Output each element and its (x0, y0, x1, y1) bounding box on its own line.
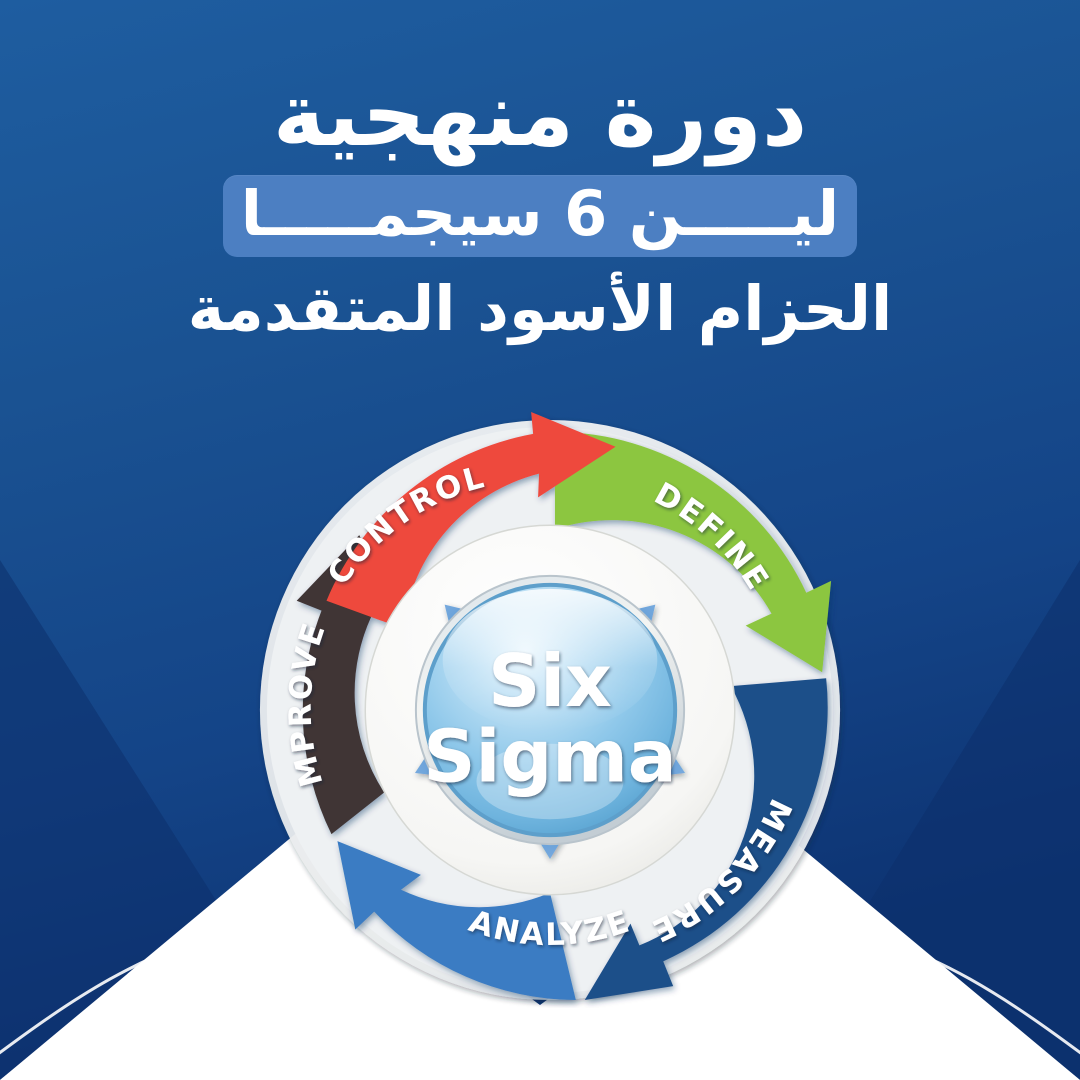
page-title: دورة منهجية (0, 0, 1080, 161)
highlight-band: ليـــــن 6 سيجمـــــا (223, 175, 857, 257)
dmaic-cycle-diagram: Six Sigma DEFINE MEASURE ANALYZE (252, 412, 848, 1008)
header-block: دورة منهجية ليـــــن 6 سيجمـــــا الحزام… (0, 0, 1080, 343)
highlight-band-label: ليـــــن 6 سيجمـــــا (241, 183, 839, 245)
core-label-line2: Sigma (423, 716, 676, 800)
highlight-band-wrapper: ليـــــن 6 سيجمـــــا (0, 175, 1080, 257)
poster-canvas: دورة منهجية ليـــــن 6 سيجمـــــا الحزام… (0, 0, 1080, 1080)
core-label-line1: Six (488, 640, 612, 724)
page-subtitle: الحزام الأسود المتقدمة (0, 257, 1080, 343)
